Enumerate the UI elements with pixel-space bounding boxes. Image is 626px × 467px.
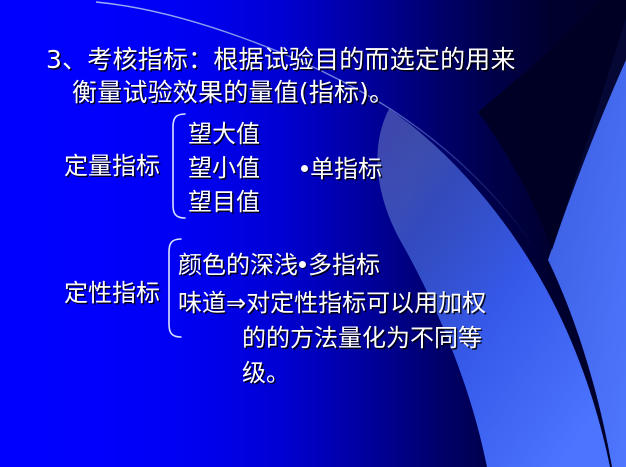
quantitative-items: 望大值 望小值 望目值	[188, 117, 260, 219]
qualitative-item-1: 颜色的深浅	[178, 251, 298, 279]
slide-title-block: 3、考核指标：根据试验目的而选定的用来 衡量试验效果的量值(指标)。	[46, 44, 566, 109]
single-indicator-label: 单指标	[310, 155, 382, 183]
qualitative-item-2-block: 味道⇒对定性指标可以用加权 的的方法量化为不同等 级。	[178, 286, 598, 391]
qualitative-item-1-row: 颜色的深浅多指标	[178, 245, 380, 280]
quantitative-group-label: 定量指标	[64, 146, 160, 181]
slide-text-layer: 3、考核指标：根据试验目的而选定的用来 衡量试验效果的量值(指标)。 定量指标 …	[0, 0, 626, 467]
bullet-icon	[299, 261, 306, 268]
multi-indicator-label: 多指标	[308, 251, 380, 279]
quantitative-item-2: 望目值	[188, 185, 260, 219]
qualitative-item-2-line-2: 的的方法量化为不同等	[178, 321, 598, 356]
quantitative-brace-icon	[166, 113, 188, 219]
title-line-1: 3、考核指标：根据试验目的而选定的用来	[46, 44, 566, 77]
quantitative-item-0: 望大值	[188, 117, 260, 151]
title-line-2: 衡量试验效果的量值(指标)。	[46, 77, 566, 110]
bullet-icon	[301, 165, 308, 172]
qualitative-item-2-line-1: 味道⇒对定性指标可以用加权	[178, 286, 598, 321]
qualitative-group-label: 定性指标	[64, 273, 160, 308]
presentation-slide: 3、考核指标：根据试验目的而选定的用来 衡量试验效果的量值(指标)。 定量指标 …	[0, 0, 626, 467]
single-indicator-annotation: 单指标	[300, 149, 382, 184]
quantitative-item-1: 望小值	[188, 151, 260, 185]
qualitative-item-2-line-3: 级。	[178, 356, 598, 391]
